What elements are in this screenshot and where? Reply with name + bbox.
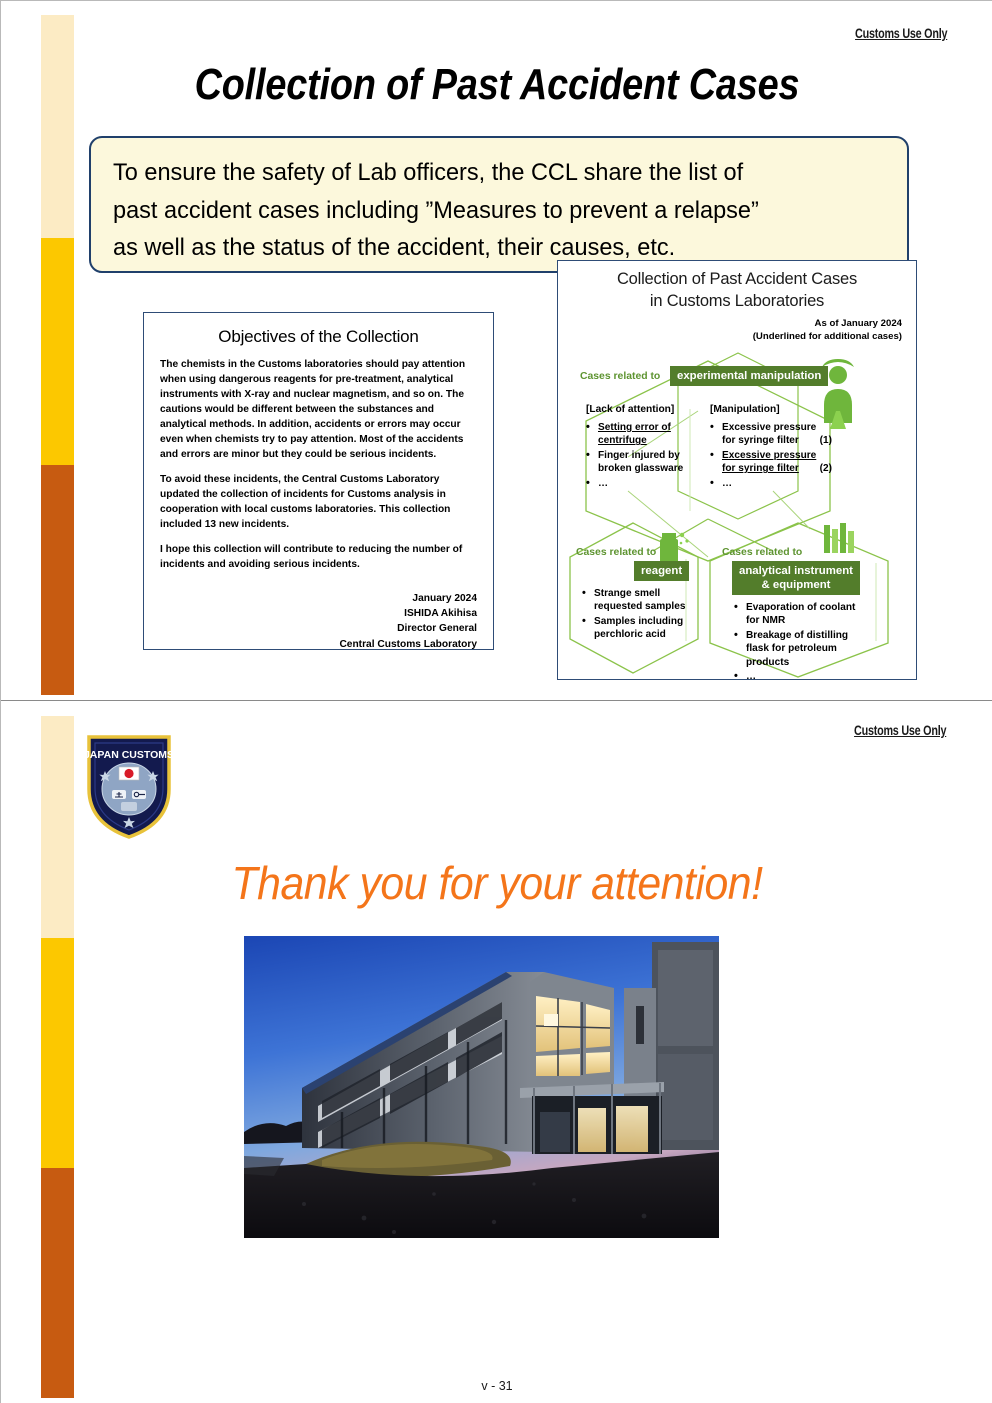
cases-related-label-reagent: Cases related to xyxy=(576,547,656,558)
signature-date: January 2024 xyxy=(160,591,477,606)
document-page: Customs Use Only Collection of Past Acci… xyxy=(0,0,992,1403)
signature-org: Central Customs Laboratory xyxy=(160,637,477,652)
subheading-lack-of-attention: [Lack of attention] xyxy=(586,404,674,415)
logo-text: JAPAN CUSTOMS xyxy=(84,749,174,761)
color-band-yellow xyxy=(41,238,74,465)
customs-use-only-stamp-2: Customs Use Only xyxy=(854,723,946,738)
bullet-text: Breakage of distilling flask for petrole… xyxy=(746,630,848,668)
instrument-icon xyxy=(824,523,854,553)
slide-1: Customs Use Only Collection of Past Acci… xyxy=(1,5,992,701)
cases-related-label-experimental: Cases related to xyxy=(580,371,660,382)
node-label-experimental-manipulation: experimental manipulation xyxy=(670,366,828,386)
list-item: … xyxy=(708,477,832,490)
bullet-number: (1) xyxy=(820,434,832,447)
node-label-line-2: & equipment xyxy=(762,579,831,591)
signature-role: Director General xyxy=(160,621,477,636)
list-item: Strange smell requested samples xyxy=(580,587,692,614)
bullet-text: … xyxy=(598,478,608,489)
bullet-list-reagent: Strange smell requested samples Samples … xyxy=(580,587,692,643)
photo-graphic xyxy=(244,936,719,1238)
bullet-text: Samples including perchloric acid xyxy=(594,616,683,640)
list-item: … xyxy=(732,670,856,680)
list-item: Setting error of centrifuge xyxy=(584,421,696,448)
color-band-yellow xyxy=(41,938,74,1168)
bullet-list-instrument: Evaporation of coolant for NMR Breakage … xyxy=(732,601,856,680)
thank-you-heading: Thank you for your attention! xyxy=(36,856,959,910)
building-photograph xyxy=(244,936,719,1238)
signature-name: ISHIDA Akihisa xyxy=(160,606,477,621)
bullet-list-lack-of-attention: Setting error of centrifuge Finger injur… xyxy=(584,421,696,491)
list-item: Samples including perchloric acid xyxy=(580,615,692,642)
node-label-analytical-instrument: analytical instrument & equipment xyxy=(732,561,860,595)
bullet-text: Excessive pressure for syringe filter xyxy=(722,450,816,474)
bullet-text: … xyxy=(722,478,732,489)
bullet-text: … xyxy=(746,671,756,680)
node-label-reagent: reagent xyxy=(634,561,689,581)
bullet-list-manipulation: Excessive pressure for syringe filter (1… xyxy=(708,421,832,491)
cases-related-label-instrument: Cases related to xyxy=(722,547,802,558)
callout-line-1: To ensure the safety of Lab officers, th… xyxy=(113,154,854,192)
objectives-heading: Objectives of the Collection xyxy=(160,327,477,347)
diagram-hexagons: Cases related to experimental manipulati… xyxy=(558,261,917,680)
page-footer: v - 31 xyxy=(1,1379,992,1393)
customs-use-only-stamp: Customs Use Only xyxy=(855,26,947,41)
bullet-number: (2) xyxy=(820,462,832,475)
bullet-text: Evaporation of coolant for NMR xyxy=(746,602,855,626)
objectives-paragraph-1: The chemists in the Customs laboratories… xyxy=(160,358,477,463)
list-item: Breakage of distilling flask for petrole… xyxy=(732,629,856,669)
objectives-box: Objectives of the Collection The chemist… xyxy=(143,312,494,650)
list-item: Excessive pressure for syringe filter (2… xyxy=(708,449,832,476)
japan-customs-logo: JAPAN CUSTOMS xyxy=(79,731,179,841)
color-band-orange xyxy=(41,1168,74,1398)
list-item: Evaporation of coolant for NMR xyxy=(732,601,856,628)
list-item: … xyxy=(584,477,696,490)
bullet-text: Finger injured by broken glassware xyxy=(598,450,683,474)
bullet-text: Strange smell requested samples xyxy=(594,588,685,612)
slide1-title: Collection of Past Accident Cases xyxy=(70,60,923,110)
color-band-orange xyxy=(41,465,74,695)
subheading-manipulation: [Manipulation] xyxy=(710,404,780,415)
list-item: Finger injured by broken glassware xyxy=(584,449,696,476)
objectives-paragraph-3: I hope this collection will contribute t… xyxy=(160,543,477,573)
objectives-signature: January 2024 ISHIDA Akihisa Director Gen… xyxy=(160,591,477,652)
objectives-paragraph-2: To avoid these incidents, the Central Cu… xyxy=(160,473,477,533)
bullet-text: Excessive pressure for syringe filter xyxy=(722,422,816,446)
summary-callout-box: To ensure the safety of Lab officers, th… xyxy=(89,136,909,273)
node-label-line-1: analytical instrument xyxy=(739,565,853,577)
bullet-text: Setting error of centrifuge xyxy=(598,422,671,446)
list-item: Excessive pressure for syringe filter (1… xyxy=(708,421,832,448)
callout-line-2: past accident cases including ”Measures … xyxy=(113,192,854,230)
color-band-cream xyxy=(41,15,74,238)
accident-cases-diagram-panel: Collection of Past Accident Cases in Cus… xyxy=(557,260,917,680)
